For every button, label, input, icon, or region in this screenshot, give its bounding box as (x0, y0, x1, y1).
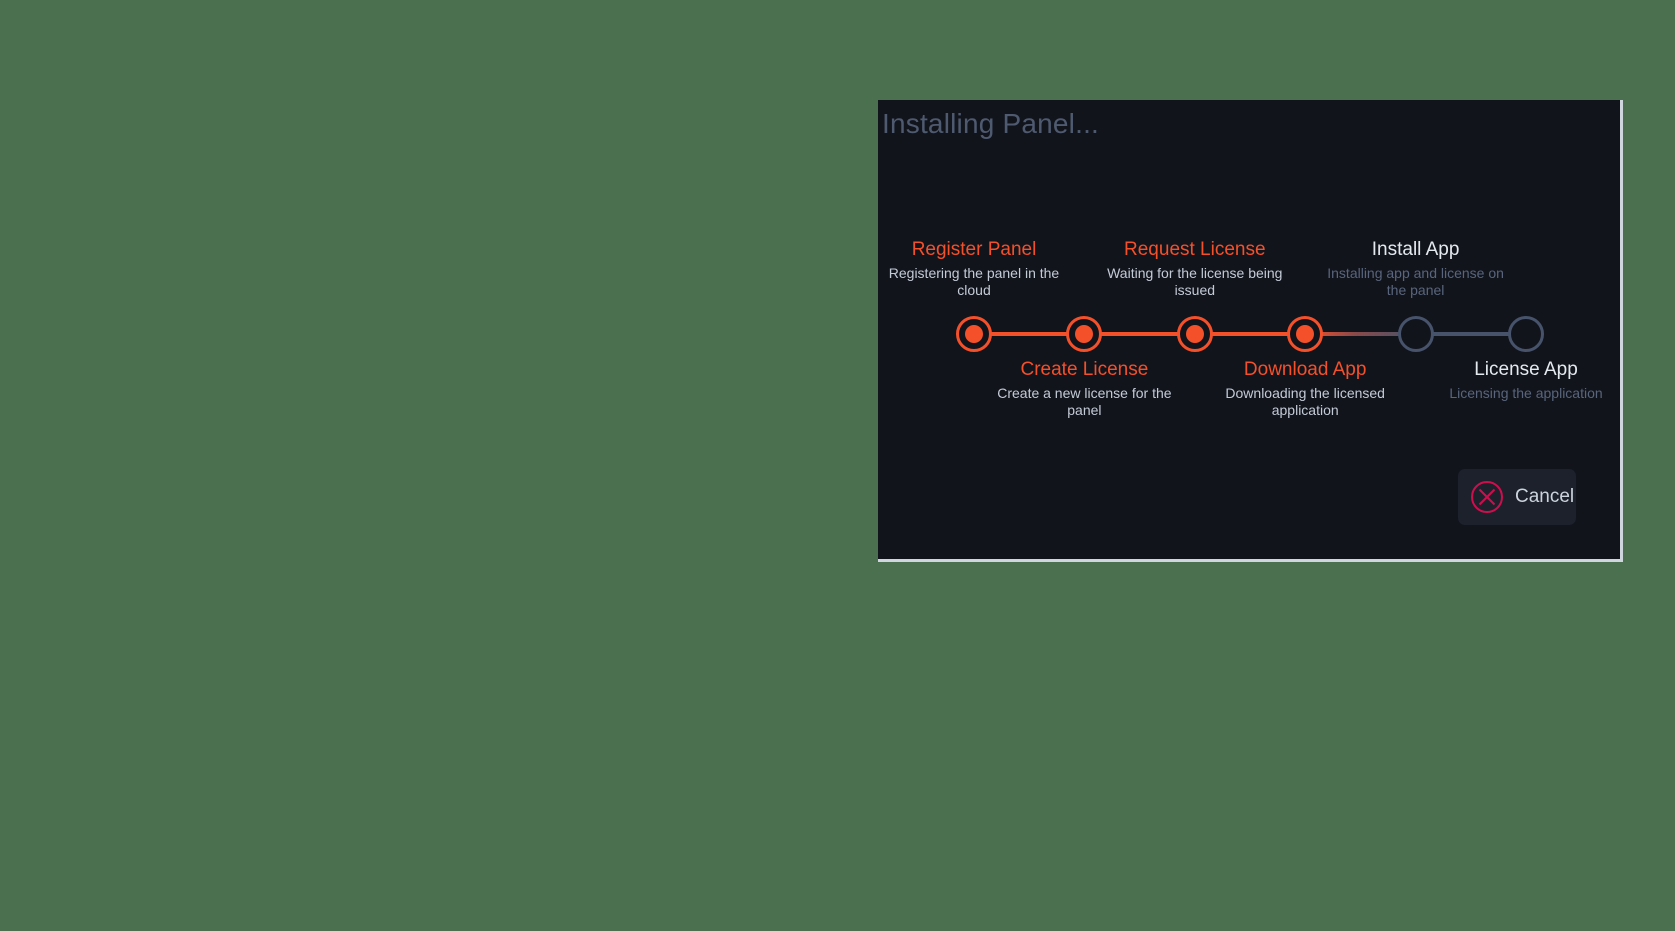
stepper-label-title: License App (1426, 358, 1623, 381)
stepper-label-title: Create License (984, 358, 1184, 381)
stepper-node-create-license (1066, 316, 1102, 352)
desktop-background: Installing Panel... Register PanelRegist… (0, 0, 1675, 931)
stepper-label-title: Register Panel (878, 238, 1074, 261)
stepper-label-title: Download App (1205, 358, 1405, 381)
stepper-label-title: Install App (1316, 238, 1516, 261)
stepper-track: Register PanelRegistering the panel in t… (956, 316, 1544, 352)
stepper-node-download-app (1287, 316, 1323, 352)
stepper-label-download-app: Download AppDownloading the licensed app… (1205, 358, 1405, 419)
circle-x-icon (1470, 480, 1504, 514)
dialog-titlebar: Installing Panel... (878, 100, 1620, 148)
stepper-node-install-app (1398, 316, 1434, 352)
stepper-label-create-license: Create LicenseCreate a new license for t… (984, 358, 1184, 419)
stepper-label-desc: Registering the panel in the cloud (878, 265, 1074, 299)
stepper-label-desc: Installing app and license on the panel (1316, 265, 1516, 299)
stepper-label-desc: Create a new license for the panel (984, 385, 1184, 419)
stepper-label-install-app: Install AppInstalling app and license on… (1316, 238, 1516, 299)
stepper-node-request-license (1177, 316, 1213, 352)
stepper-label-license-app: License AppLicensing the application (1426, 358, 1623, 402)
stepper-label-title: Request License (1095, 238, 1295, 261)
stepper-node-license-app (1508, 316, 1544, 352)
stepper-label-desc: Waiting for the license being issued (1095, 265, 1295, 299)
install-progress-stepper: Register PanelRegistering the panel in t… (878, 218, 1620, 448)
cancel-button-label: Cancel (1515, 486, 1574, 508)
cancel-button[interactable]: Cancel (1458, 469, 1576, 525)
stepper-label-desc: Downloading the licensed application (1205, 385, 1405, 419)
stepper-label-request-license: Request LicenseWaiting for the license b… (1095, 238, 1295, 299)
stepper-label-desc: Licensing the application (1426, 385, 1623, 402)
stepper-node-register-panel (956, 316, 992, 352)
installing-panel-dialog: Installing Panel... Register PanelRegist… (878, 100, 1623, 562)
page-title: Installing Panel... (882, 108, 1099, 140)
stepper-label-register-panel: Register PanelRegistering the panel in t… (878, 238, 1074, 299)
